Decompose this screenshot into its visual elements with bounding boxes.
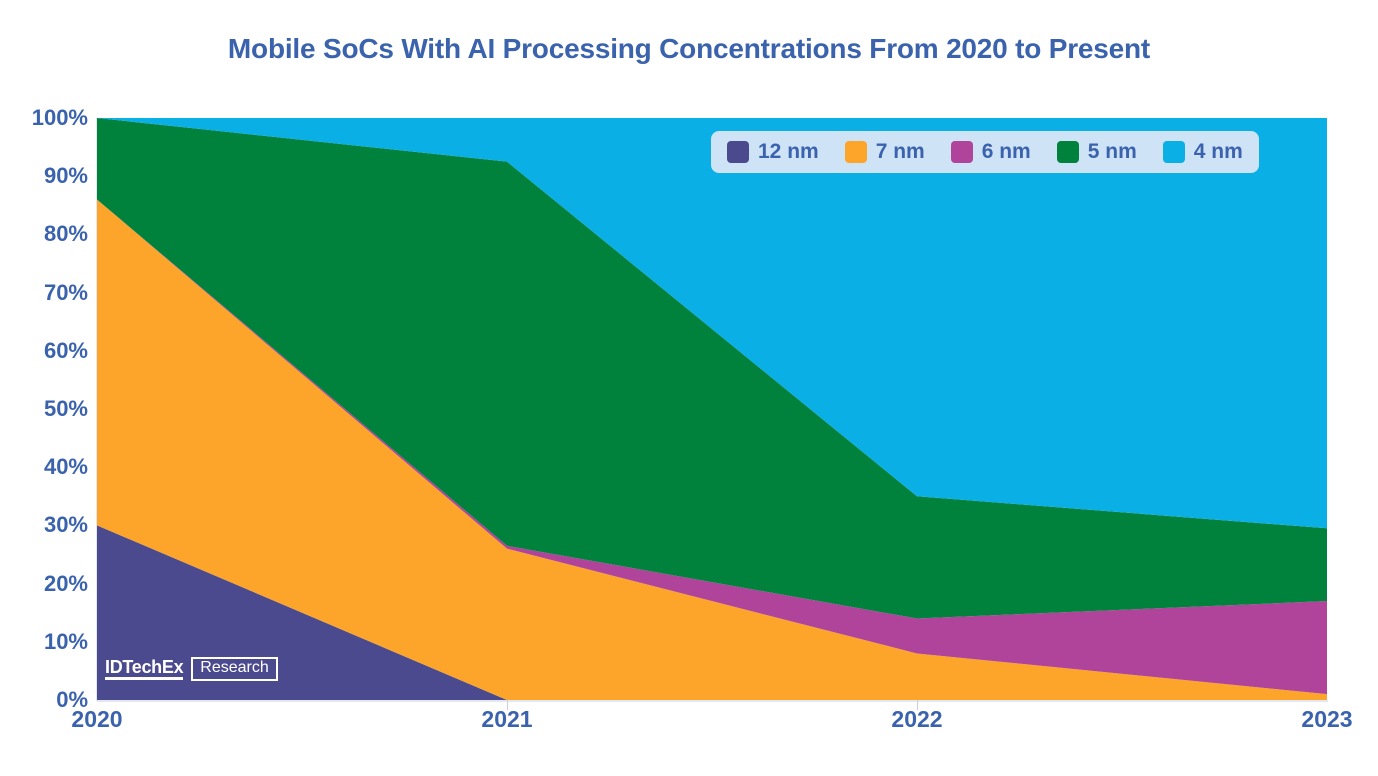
x-tick-mark [917, 700, 918, 710]
x-tick-label: 2023 [1267, 708, 1378, 731]
legend-item-4-nm[interactable]: 4 nm [1163, 140, 1243, 164]
chart-container: Mobile SoCs With AI Processing Concentra… [0, 0, 1378, 776]
legend-swatch-icon [1163, 141, 1185, 163]
watermark: IDTechEx Research [105, 656, 278, 682]
plot-area [97, 118, 1327, 700]
x-tick-mark [507, 700, 508, 710]
chart-legend[interactable]: 12 nm7 nm6 nm5 nm4 nm [711, 131, 1259, 173]
legend-swatch-icon [845, 141, 867, 163]
legend-swatch-icon [1057, 141, 1079, 163]
legend-label: 5 nm [1088, 140, 1137, 164]
legend-label: 12 nm [758, 140, 819, 164]
legend-item-5-nm[interactable]: 5 nm [1057, 140, 1137, 164]
legend-swatch-icon [727, 141, 749, 163]
legend-item-7-nm[interactable]: 7 nm [845, 140, 925, 164]
x-tick-label: 2021 [447, 708, 567, 731]
watermark-suffix: Research [191, 657, 277, 681]
legend-item-12-nm[interactable]: 12 nm [727, 140, 819, 164]
stacked-area-series-group [97, 118, 1327, 700]
legend-label: 6 nm [982, 140, 1031, 164]
x-tick-label: 2022 [857, 708, 977, 731]
x-tick-label: 2020 [37, 708, 157, 731]
legend-label: 7 nm [876, 140, 925, 164]
legend-item-6-nm[interactable]: 6 nm [951, 140, 1031, 164]
legend-swatch-icon [951, 141, 973, 163]
legend-label: 4 nm [1194, 140, 1243, 164]
watermark-brand: IDTechEx [105, 658, 183, 681]
